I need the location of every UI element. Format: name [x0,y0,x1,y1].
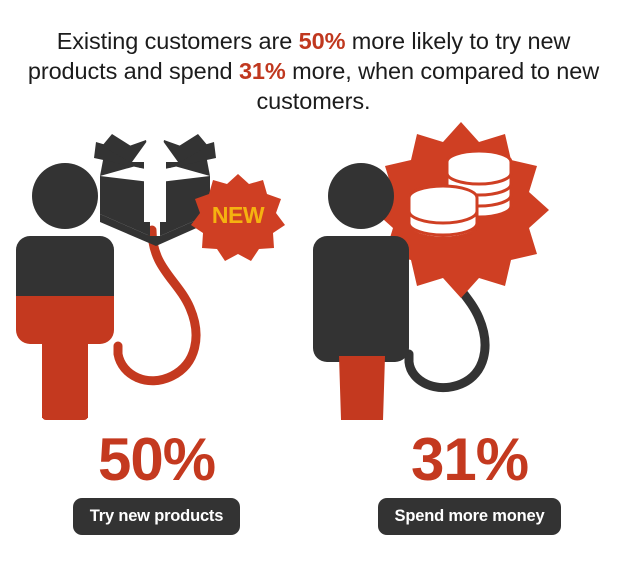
figure-head-icon [328,163,394,229]
figure-head-icon [32,163,98,229]
stat-try-new-products: 50% Try new products [0,428,313,535]
illustration-stage: NEW [0,118,627,438]
stats-row: 50% Try new products 31% Spend more mone… [0,428,627,558]
coin-stack-front-icon [409,186,477,238]
headline-stat-50: 50% [299,28,346,54]
stat-label-spend-more-money[interactable]: Spend more money [378,498,562,535]
person-figure-icon [16,163,114,420]
headline-stat-31: 31% [239,58,286,84]
stat-value-31: 31% [313,428,626,492]
headline-part-1: Existing customers are [57,28,299,54]
headline: Existing customers are 50% more likely t… [0,26,627,116]
stat-spend-more-money: 31% Spend more money [313,428,626,535]
headline-part-3: more, when compared to new customers. [257,58,600,114]
red-cord-icon [118,230,196,381]
stat-label-try-new-products[interactable]: Try new products [73,498,240,535]
panel-try-new-products: NEW [0,118,313,438]
stat-value-50: 50% [0,428,313,492]
new-badge-label: NEW [212,202,265,228]
panel-spend-more-money [313,118,626,438]
